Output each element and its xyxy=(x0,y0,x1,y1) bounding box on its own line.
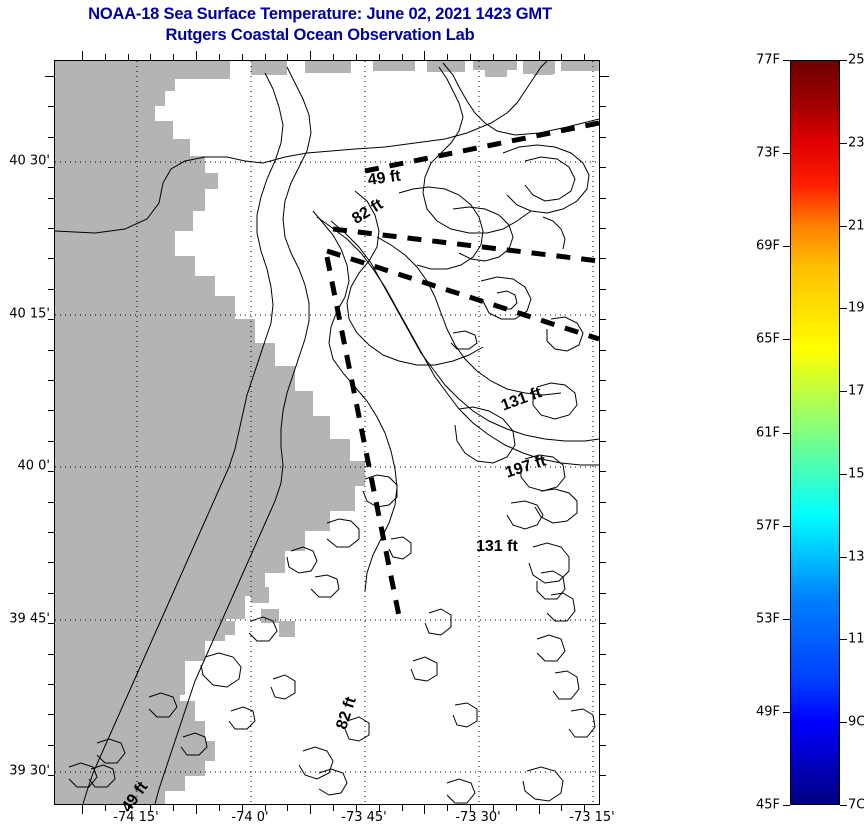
y-tick-right xyxy=(600,471,606,472)
x-axis-label-2: -73 45' xyxy=(341,810,386,825)
y-tick xyxy=(48,441,54,442)
colorbar-tick-c xyxy=(840,805,847,806)
x-tick-top xyxy=(128,54,129,60)
colorbar-tick-c xyxy=(840,60,847,61)
x-tick xyxy=(424,805,425,814)
y-tick xyxy=(48,684,54,685)
map-graphics xyxy=(55,61,599,804)
y-axis-label-2: 40 0' xyxy=(17,459,50,474)
page-title: NOAA-18 Sea Surface Temperature: June 02… xyxy=(0,4,640,25)
x-tick-top xyxy=(356,54,357,60)
colorbar-tick-c xyxy=(840,474,847,475)
x-tick xyxy=(402,805,403,811)
colorbar-tick-c xyxy=(840,391,847,392)
colorbar-label-fahrenheit: 69F xyxy=(756,239,780,254)
y-tick-right xyxy=(600,289,606,290)
y-tick-right xyxy=(600,654,606,655)
depth-contour-label: 131 ft xyxy=(476,538,518,556)
colorbar-tick-f xyxy=(783,339,790,340)
x-tick-top xyxy=(516,54,517,60)
y-tick xyxy=(48,745,54,746)
colorbar-label-fahrenheit: 49F xyxy=(756,704,780,719)
y-tick xyxy=(48,654,54,655)
y-tick-right xyxy=(600,198,606,199)
x-tick-top xyxy=(82,51,83,60)
x-axis-label-4: -73 15' xyxy=(569,810,614,825)
sst-map-panel[interactable] xyxy=(54,60,600,805)
x-tick-top xyxy=(219,54,220,60)
y-tick-right xyxy=(600,502,606,503)
y-tick-right xyxy=(600,319,606,320)
page-subtitle: Rutgers Coastal Ocean Observation Lab xyxy=(0,25,640,46)
y-tick xyxy=(48,410,54,411)
x-tick xyxy=(105,805,106,811)
colorbar-tick-c xyxy=(840,557,847,558)
x-tick-top xyxy=(242,54,243,60)
y-tick-right xyxy=(600,714,606,715)
x-tick xyxy=(561,805,562,811)
y-tick-right xyxy=(600,745,606,746)
y-axis-label-1: 40 15' xyxy=(9,307,50,322)
colorbar-tick-f xyxy=(783,526,790,527)
colorbar-label-celsius: 19C xyxy=(848,301,864,316)
x-tick-top xyxy=(105,54,106,60)
x-tick xyxy=(310,805,311,814)
colorbar-label-fahrenheit: 57F xyxy=(756,518,780,533)
x-axis-label-0: -74 15' xyxy=(113,810,158,825)
colorbar-gradient xyxy=(790,60,840,805)
y-tick xyxy=(48,350,54,351)
y-tick-right xyxy=(600,623,606,624)
x-tick xyxy=(333,805,334,811)
x-tick-top xyxy=(379,54,380,60)
colorbar-label-celsius: 15C xyxy=(848,466,864,481)
colorbar-tick-c xyxy=(840,639,847,640)
y-tick-right xyxy=(600,441,606,442)
colorbar-label-fahrenheit: 61F xyxy=(756,425,780,440)
y-tick xyxy=(48,502,54,503)
temperature-colorbar[interactable]: 77F73F69F65F61F57F53F49F45F25C23C21C19C1… xyxy=(790,60,840,805)
y-tick xyxy=(48,714,54,715)
y-tick xyxy=(48,532,54,533)
x-tick xyxy=(447,805,448,811)
x-tick-top xyxy=(470,54,471,60)
colorbar-label-fahrenheit: 73F xyxy=(756,146,780,161)
x-tick-top xyxy=(447,54,448,60)
colorbar-tick-c xyxy=(840,143,847,144)
x-tick xyxy=(516,805,517,811)
colorbar-label-celsius: 7C xyxy=(848,798,864,813)
x-tick-top xyxy=(561,54,562,60)
y-tick-right xyxy=(600,228,606,229)
colorbar-tick-c xyxy=(840,226,847,227)
x-tick xyxy=(287,805,288,811)
x-tick xyxy=(173,805,174,811)
y-tick xyxy=(48,228,54,229)
y-tick xyxy=(48,380,54,381)
colorbar-tick-f xyxy=(783,619,790,620)
colorbar-label-fahrenheit: 45F xyxy=(756,798,780,813)
colorbar-tick-f xyxy=(783,433,790,434)
colorbar-tick-f xyxy=(783,60,790,61)
x-tick-top xyxy=(402,54,403,60)
colorbar-label-fahrenheit: 53F xyxy=(756,611,780,626)
y-tick-right xyxy=(600,350,606,351)
y-tick-right xyxy=(600,137,606,138)
colorbar-tick-f xyxy=(783,712,790,713)
y-tick xyxy=(48,258,54,259)
y-tick-right xyxy=(600,684,606,685)
y-tick xyxy=(45,76,54,77)
title-block: NOAA-18 Sea Surface Temperature: June 02… xyxy=(0,4,640,46)
x-tick-top xyxy=(196,51,197,60)
x-tick-top xyxy=(310,51,311,60)
colorbar-label-celsius: 23C xyxy=(848,135,864,150)
y-tick-right xyxy=(600,593,606,594)
y-axis-label-3: 39 45' xyxy=(9,612,50,627)
colorbar-tick-f xyxy=(783,153,790,154)
x-tick-top xyxy=(424,51,425,60)
x-axis-label-3: -73 30' xyxy=(455,810,500,825)
colorbar-label-celsius: 11C xyxy=(848,632,864,647)
map-clip xyxy=(55,61,599,804)
colorbar-label-celsius: 13C xyxy=(848,549,864,564)
colorbar-label-fahrenheit: 77F xyxy=(756,53,780,68)
x-tick-top xyxy=(265,54,266,60)
y-axis-label-0: 40 30' xyxy=(9,154,50,169)
colorbar-tick-c xyxy=(840,308,847,309)
y-tick xyxy=(48,198,54,199)
y-tick-right xyxy=(600,76,609,77)
x-tick-top xyxy=(287,54,288,60)
colorbar-tick-c xyxy=(840,722,847,723)
colorbar-label-celsius: 25C xyxy=(848,53,864,68)
y-tick-right xyxy=(600,106,606,107)
x-tick xyxy=(82,805,83,814)
y-tick xyxy=(48,137,54,138)
x-tick-top xyxy=(173,54,174,60)
colorbar-label-fahrenheit: 65F xyxy=(756,332,780,347)
y-tick-right xyxy=(600,562,606,563)
x-tick xyxy=(539,805,540,814)
colorbar-label-celsius: 17C xyxy=(848,384,864,399)
y-tick-right xyxy=(600,410,606,411)
y-tick-right xyxy=(600,380,606,381)
x-tick xyxy=(219,805,220,811)
x-axis-label-1: -74 0' xyxy=(231,810,268,825)
colorbar-tick-f xyxy=(783,805,790,806)
x-tick xyxy=(196,805,197,814)
y-tick xyxy=(48,562,54,563)
colorbar-label-celsius: 21C xyxy=(848,218,864,233)
y-tick xyxy=(48,106,54,107)
y-tick-right xyxy=(600,775,606,776)
x-tick-top xyxy=(150,54,151,60)
y-tick-right xyxy=(600,167,606,168)
y-axis-label-4: 39 30' xyxy=(9,764,50,779)
y-tick xyxy=(48,289,54,290)
colorbar-tick-f xyxy=(783,246,790,247)
y-tick-right xyxy=(600,532,606,533)
y-tick-right xyxy=(600,258,606,259)
x-tick-top xyxy=(584,54,585,60)
x-tick-top xyxy=(493,54,494,60)
x-tick-top xyxy=(539,51,540,60)
y-tick xyxy=(48,593,54,594)
colorbar-label-celsius: 9C xyxy=(848,715,864,730)
x-tick-top xyxy=(333,54,334,60)
